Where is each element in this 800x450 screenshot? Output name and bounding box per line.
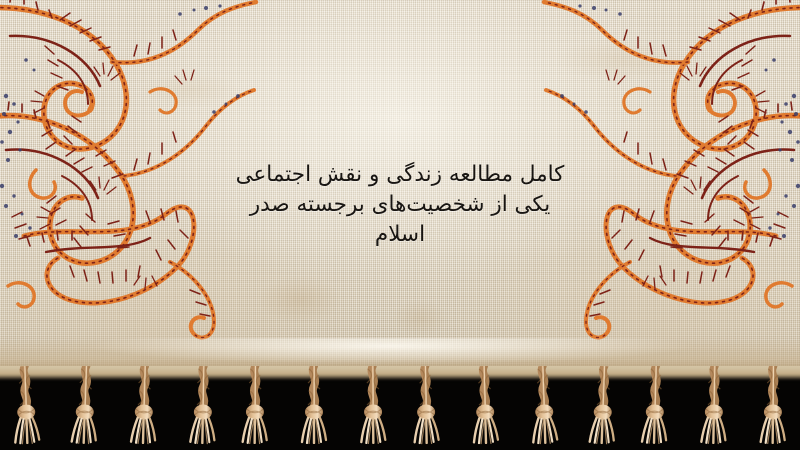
- fringe-tassel: [295, 366, 333, 444]
- fringe-tassel: [64, 366, 105, 445]
- fringe-tassel: [465, 366, 505, 445]
- fringe-tassel: [695, 366, 734, 444]
- fringe-tassel: [124, 366, 164, 445]
- fringe-tassel: [523, 366, 564, 445]
- fringe-tassel: [354, 366, 393, 444]
- tassel-fringe: [0, 366, 800, 450]
- fringe-tassel: [754, 366, 793, 444]
- fringe-header-band: [0, 366, 800, 380]
- fringe-tassel: [5, 366, 46, 445]
- slide-title: کامل مطالعه زندگی و نقش اجتماعی یکی از ش…: [0, 160, 800, 250]
- fringe-tassel: [635, 366, 675, 444]
- fringe-tassel: [583, 366, 624, 445]
- slide-canvas: کامل مطالعه زندگی و نقش اجتماعی یکی از ش…: [0, 0, 800, 450]
- fringe-tassel: [236, 366, 275, 444]
- fringe-tassel: [406, 366, 445, 444]
- fringe-tassel: [183, 366, 222, 444]
